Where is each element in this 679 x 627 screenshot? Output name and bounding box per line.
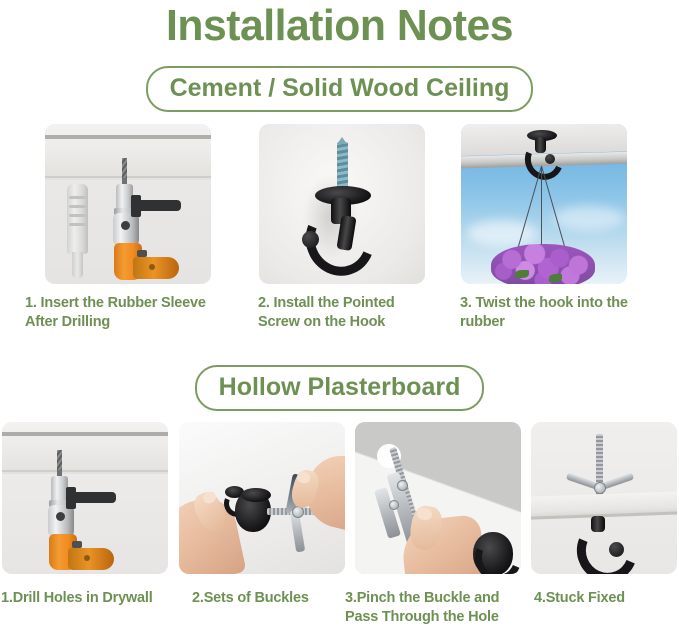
installation-notes-page: Installation Notes Cement / Solid Wood C… bbox=[0, 0, 679, 627]
step-caption-2-1: 1.Drill Holes in Drywall bbox=[1, 589, 181, 608]
section-heading-cement: Cement / Solid Wood Ceiling bbox=[0, 66, 679, 112]
step-image-install-pointed-screw bbox=[259, 124, 425, 284]
step-caption-2-3: 3.Pinch the Buckle and Pass Through the … bbox=[345, 589, 515, 627]
step-caption-1-3: 3. Twist the hook into the rubber bbox=[460, 294, 640, 332]
step-image-insert-rubber-sleeve bbox=[45, 124, 211, 284]
page-title: Installation Notes bbox=[10, 0, 669, 54]
section-heading-plasterboard: Hollow Plasterboard bbox=[0, 365, 679, 411]
step-caption-1-2: 2. Install the Pointed Screw on the Hook bbox=[258, 294, 438, 332]
step-image-pinch-the-buckle bbox=[355, 422, 521, 574]
step-image-sets-of-buckles bbox=[179, 422, 345, 574]
step-caption-1-1: 1. Insert the Rubber Sleeve After Drilli… bbox=[25, 294, 225, 332]
step-image-drill-holes-in-drywall bbox=[2, 422, 168, 574]
section-heading-plasterboard-label: Hollow Plasterboard bbox=[195, 365, 485, 411]
step-image-stuck-fixed bbox=[531, 422, 677, 574]
step-caption-2-4: 4.Stuck Fixed bbox=[534, 589, 674, 608]
step-image-twist-hook-into-rubber bbox=[461, 124, 627, 284]
section-heading-cement-label: Cement / Solid Wood Ceiling bbox=[146, 66, 534, 112]
step-caption-2-2: 2.Sets of Buckles bbox=[192, 589, 352, 608]
